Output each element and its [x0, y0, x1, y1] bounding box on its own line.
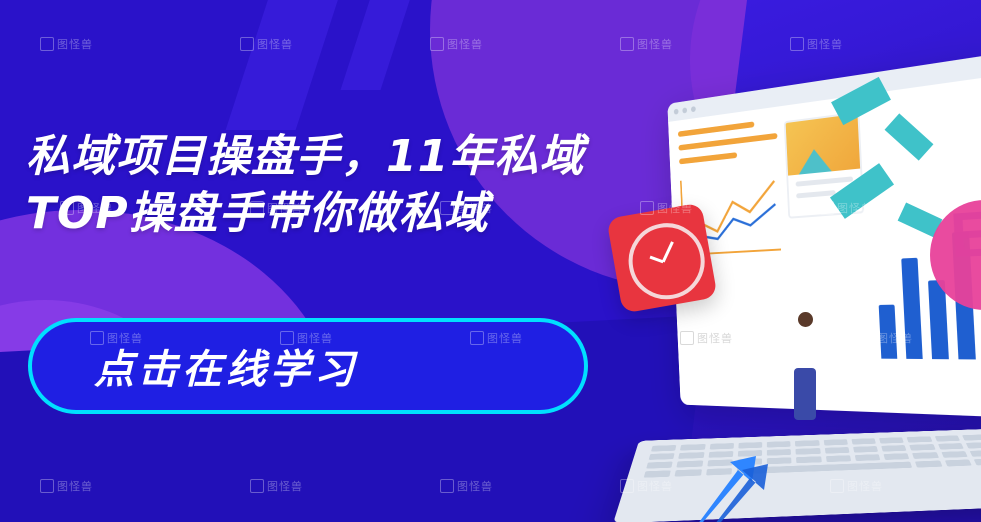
key: [915, 461, 942, 468]
key: [738, 442, 762, 448]
course-promo-banner: E: [0, 0, 981, 522]
key: [909, 444, 935, 451]
key: [944, 459, 971, 466]
window-dot-2: [682, 107, 687, 113]
bar-2: [901, 258, 922, 359]
key: [966, 442, 981, 448]
key: [934, 435, 959, 441]
key: [881, 445, 906, 452]
person-legs: [794, 368, 816, 420]
key: [912, 452, 938, 459]
person-figure: [782, 312, 828, 422]
key: [973, 458, 981, 465]
key: [824, 447, 849, 454]
key: [651, 445, 677, 452]
key: [938, 443, 964, 449]
window-dot-3: [691, 106, 696, 112]
person-torso: [792, 327, 818, 371]
card-thumbnail: [786, 114, 861, 176]
clock-hand-hour: [662, 241, 674, 262]
key: [883, 453, 909, 460]
person-head: [798, 312, 813, 327]
key: [853, 446, 878, 453]
headline-line-1: 私域项目操盘手，11年私域: [26, 128, 786, 185]
key: [962, 434, 981, 440]
headline-line-2: TOP操盘手带你做私域: [26, 185, 786, 242]
arrow-icon: [660, 452, 810, 522]
key: [969, 450, 981, 457]
key: [941, 451, 968, 458]
key: [851, 438, 876, 444]
key: [795, 440, 819, 446]
key: [823, 439, 847, 445]
key: [907, 436, 932, 442]
cta-button-label: 点击在线学习: [94, 337, 358, 395]
key: [680, 444, 705, 451]
bar-1: [879, 305, 898, 359]
key: [767, 441, 791, 447]
window-dot-1: [674, 109, 679, 115]
key: [709, 443, 734, 449]
card-text-1: [796, 176, 854, 186]
cta-button[interactable]: 点击在线学习: [28, 318, 588, 414]
clock-hand-minute: [650, 256, 664, 264]
page-title: 私域项目操盘手，11年私域 TOP操盘手带你做私域: [26, 128, 786, 242]
key: [825, 455, 850, 462]
key: [879, 437, 904, 443]
key: [855, 454, 881, 461]
